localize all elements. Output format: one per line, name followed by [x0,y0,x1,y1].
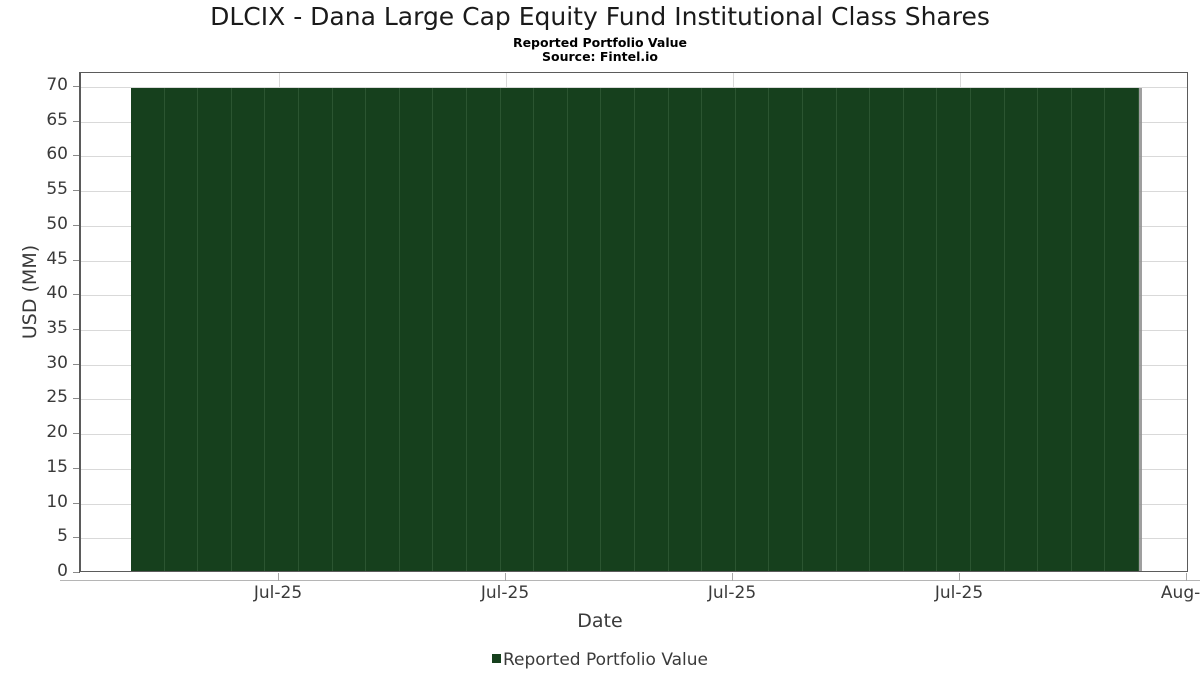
legend-label: Reported Portfolio Value [503,649,708,671]
y-tick-label: 55 [8,181,68,198]
bar[interactable] [904,88,938,571]
plot-area [80,72,1188,572]
bar-series-reported-portfolio-value[interactable] [81,73,1187,571]
y-tick-label: 0 [8,563,68,580]
bar[interactable] [803,88,837,571]
y-tick-mark [73,190,79,191]
x-tick-mark [505,573,506,581]
x-axis-title: Date [0,610,1200,632]
y-tick-mark [73,260,79,261]
bar[interactable] [333,88,367,571]
chart-subtitle: Reported Portfolio Value [0,36,1200,50]
bar[interactable] [601,88,635,571]
bar[interactable] [366,88,400,571]
y-tick-mark [73,572,79,573]
bar[interactable] [769,88,803,571]
bar[interactable] [1072,88,1106,571]
y-tick-mark [73,503,79,504]
bar[interactable] [1105,88,1139,571]
gridline-vertical [1187,73,1188,571]
y-tick-label: 25 [8,389,68,406]
y-axis-line [79,72,80,573]
bar[interactable] [937,88,971,571]
bar[interactable] [501,88,535,571]
y-tick-mark [73,398,79,399]
y-tick-mark [73,155,79,156]
chart-figure: DLCIX - Dana Large Cap Equity Fund Insti… [0,0,1200,675]
x-tick-label: Jul-25 [445,583,565,603]
bar[interactable] [534,88,568,571]
title-block: DLCIX - Dana Large Cap Equity Fund Insti… [0,2,1200,64]
y-tick-label: 60 [8,146,68,163]
x-axis-line [60,580,1200,581]
bar[interactable] [702,88,736,571]
y-tick-mark [73,468,79,469]
x-tick-mark [732,573,733,581]
bar[interactable] [1005,88,1039,571]
bar[interactable] [736,88,770,571]
y-tick-mark [73,364,79,365]
x-tick-mark [1186,573,1187,581]
y-tick-label: 20 [8,424,68,441]
bar[interactable] [568,88,602,571]
y-tick-label: 5 [8,528,68,545]
y-tick-mark [73,537,79,538]
bar[interactable] [400,88,434,571]
y-tick-mark [73,121,79,122]
y-tick-mark [73,86,79,87]
bar[interactable] [635,88,669,571]
bar[interactable] [837,88,871,571]
bar[interactable] [232,88,266,571]
bar[interactable] [131,88,165,571]
bar[interactable] [265,88,299,571]
x-tick-label: Jul-25 [899,583,1019,603]
bar[interactable] [971,88,1005,571]
y-tick-label: 65 [8,112,68,129]
x-tick-mark [959,573,960,581]
bar[interactable] [198,88,232,571]
bar[interactable] [433,88,467,571]
bar[interactable] [669,88,703,571]
x-tick-label: Aug-2 [1126,583,1200,603]
bar[interactable] [165,88,199,571]
y-axis-title: USD (MM) [19,217,41,367]
y-tick-label: 10 [8,494,68,511]
legend-item[interactable]: Reported Portfolio Value [492,648,708,671]
y-tick-mark [73,329,79,330]
bar[interactable] [299,88,333,571]
x-tick-label: Jul-25 [672,583,792,603]
x-tick-mark [278,573,279,581]
chart-legend: Reported Portfolio Value [0,648,1200,671]
bar-shadow-edge [1139,88,1142,571]
y-tick-label: 15 [8,459,68,476]
bar[interactable] [467,88,501,571]
legend-swatch-icon [492,654,501,663]
page-title: DLCIX - Dana Large Cap Equity Fund Insti… [0,2,1200,32]
x-tick-label: Jul-25 [218,583,338,603]
y-tick-mark [73,294,79,295]
bar[interactable] [1038,88,1072,571]
y-tick-label: 70 [8,77,68,94]
y-tick-mark [73,433,79,434]
y-tick-mark [73,225,79,226]
bar[interactable] [870,88,904,571]
chart-source: Source: Fintel.io [0,50,1200,64]
